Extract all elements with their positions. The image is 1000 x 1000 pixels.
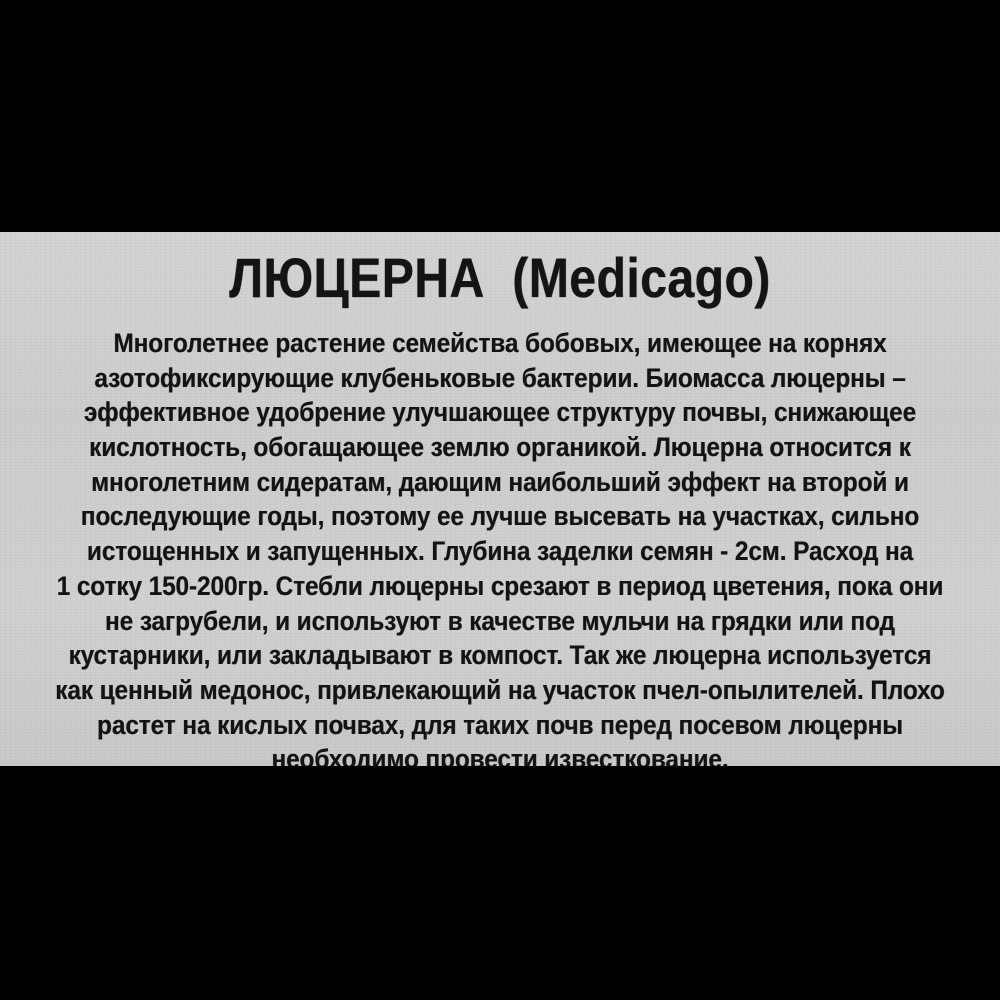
text-line: 1 сотку 150-200гр. Стебли люцерны срезаю… (40, 569, 960, 604)
description-text-block: Многолетнее растение семейства бобовых, … (0, 326, 1000, 766)
seed-packet-label-panel: ЛЮЦЕРНА (Medicago) Многолетнее растение … (0, 232, 1000, 766)
text-line: необходимо провести известкование. (40, 742, 960, 766)
text-line: не загрубели, и используют в качестве му… (40, 604, 960, 639)
screenshot-root: ЛЮЦЕРНА (Medicago) Многолетнее растение … (0, 0, 1000, 1000)
text-line: азотофиксирующие клубеньковые бактерии. … (40, 361, 960, 396)
text-line: эффективное удобрение улучшающее структу… (40, 395, 960, 430)
text-line: истощенных и запущенных. Глубина заделки… (40, 534, 960, 569)
text-line: кислотность, обогащающее землю органикой… (40, 430, 960, 465)
page-title: ЛЮЦЕРНА (Medicago) (70, 248, 930, 308)
text-line: растет на кислых почвах, для таких почв … (40, 708, 960, 743)
letterbox-bar-top (0, 0, 1000, 232)
text-line: как ценный медонос, привлекающий на учас… (40, 673, 960, 708)
letterbox-bar-bottom (0, 766, 1000, 1000)
text-line: Многолетнее растение семейства бобовых, … (40, 326, 960, 361)
label-content: ЛЮЦЕРНА (Medicago) Многолетнее растение … (0, 232, 1000, 766)
text-line: последующие годы, поэтому ее лучше высев… (40, 499, 960, 534)
text-line: кустарники, или закладывают в компост. Т… (40, 638, 960, 673)
text-line: многолетним сидератам, дающим наибольший… (40, 465, 960, 500)
